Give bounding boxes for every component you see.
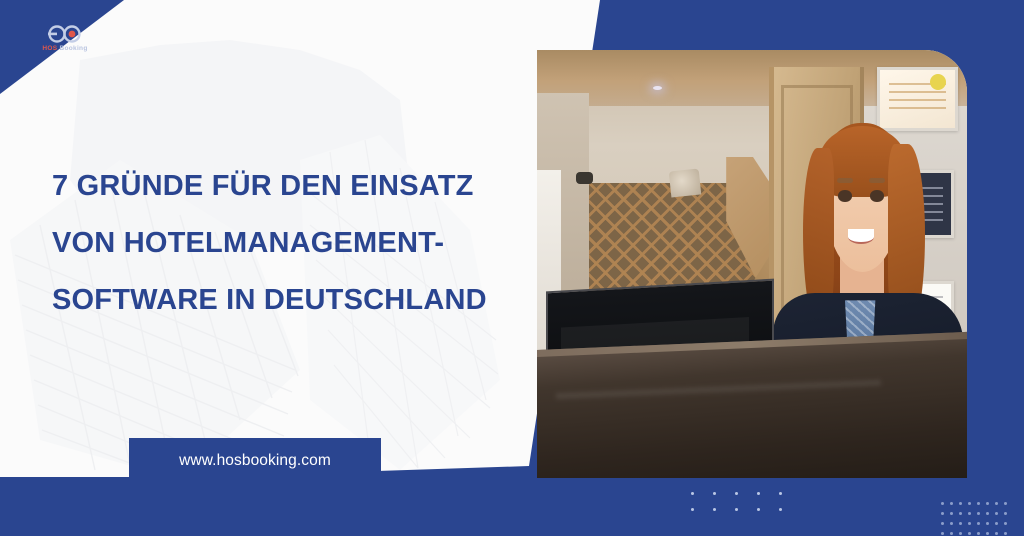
brand-logo-text-secondary: Booking xyxy=(60,45,88,52)
photo-certificate-frame xyxy=(877,67,959,131)
brand-logo-text-primary: HOS xyxy=(42,45,57,52)
photo-security-camera xyxy=(576,172,593,184)
photo-reception-counter xyxy=(537,331,967,478)
page-title-line-3: SOFTWARE IN DEUTSCHLAND xyxy=(52,272,522,329)
brand-logo-text: HOS Booking xyxy=(42,45,87,52)
infinity-circles-icon xyxy=(44,25,86,43)
page-title-line-1: 7 GRÜNDE FÜR DEN EINSATZ xyxy=(52,158,522,215)
dot-grid-right xyxy=(941,502,1013,536)
brand-logo[interactable]: HOS Booking xyxy=(26,18,104,58)
website-url-button[interactable]: www.hosbooking.com xyxy=(129,438,381,484)
blog-banner: HOS Booking 7 GRÜNDE FÜR DEN EINSATZ VON… xyxy=(0,0,1024,536)
photo-decor-vase xyxy=(669,168,702,197)
page-title: 7 GRÜNDE FÜR DEN EINSATZ VON HOTELMANAGE… xyxy=(52,158,522,329)
page-title-line-2: VON HOTELMANAGEMENT- xyxy=(52,215,522,272)
hero-photo xyxy=(537,50,967,478)
dot-grid-left xyxy=(691,492,801,524)
photo-certificate-seal xyxy=(930,74,946,90)
